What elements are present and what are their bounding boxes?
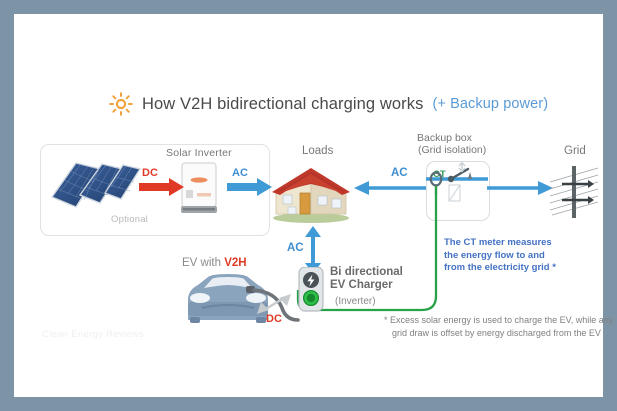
ev-label-highlight: V2H	[224, 257, 246, 269]
backup-box-title: Backup box	[417, 132, 472, 144]
solar-inverter-label: Solar Inverter	[166, 147, 232, 159]
dc-arrow-solar-icon	[139, 176, 185, 198]
grid-label: Grid	[564, 145, 586, 157]
loads-label: Loads	[302, 145, 333, 157]
backup-box-subtitle: (Grid isolation)	[418, 144, 486, 156]
sun-icon	[109, 92, 133, 116]
footnote: * Excess solar energy is used to charge …	[384, 314, 613, 339]
footnote-line1: * Excess solar energy is used to charge …	[384, 314, 613, 327]
solar-panel-array-icon	[50, 153, 142, 215]
ac-label-vertical: AC	[287, 242, 304, 254]
optional-label: Optional	[111, 214, 148, 225]
grid-tower-icon	[548, 162, 602, 220]
ac-label-backup: AC	[391, 167, 408, 179]
ev-label: EV with V2H	[182, 257, 247, 269]
charger-subtitle: (Inverter)	[335, 296, 376, 307]
diagram-frame: How V2H bidirectional charging works (+ …	[14, 14, 603, 397]
ct-note: The CT meter measures the energy flow to…	[444, 237, 556, 275]
ct-note-line1: The CT meter measures	[444, 237, 556, 250]
title-main-text: How V2H bidirectional charging works	[142, 95, 423, 114]
dc-label-ev: DC	[266, 313, 282, 325]
charger-title-line2: EV Charger	[330, 279, 393, 291]
ct-note-line2: the energy flow to and	[444, 250, 556, 263]
ct-note-line3: from the electricity grid *	[444, 262, 556, 275]
ac-wire-backup-grid	[487, 179, 553, 197]
charger-title-line1: Bi directional	[330, 266, 403, 278]
ev-label-prefix: EV with	[182, 257, 224, 269]
diagram-canvas: How V2H bidirectional charging works (+ …	[14, 14, 603, 397]
footnote-line2: grid draw is offset by energy discharged…	[384, 327, 613, 340]
ac-arrow-inverter-icon	[227, 176, 273, 198]
title-sub-text: (+ Backup power)	[432, 96, 548, 112]
watermark: Clean Energy Reviews	[42, 329, 144, 340]
diagram-title: How V2H bidirectional charging works (+ …	[109, 92, 548, 116]
